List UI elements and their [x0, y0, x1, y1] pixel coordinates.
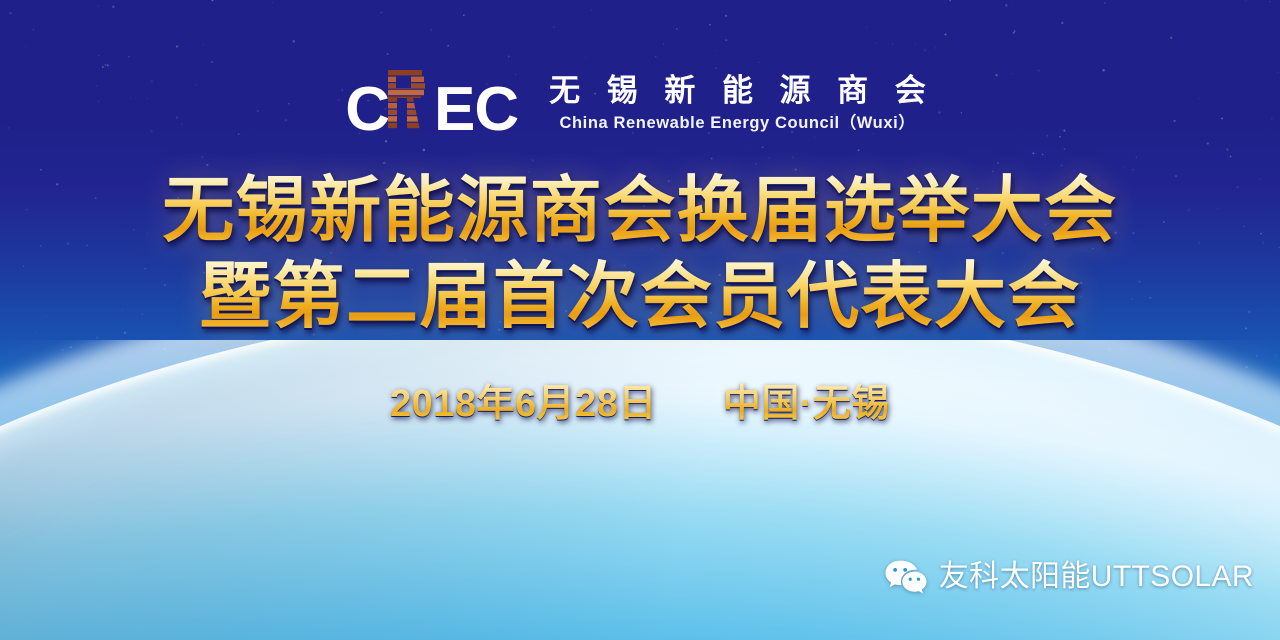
logo-english-name: China Renewable Energy Council（Wuxi） — [559, 114, 915, 132]
event-title: 无锡新能源商会换届选举大会 暨第二届首次会员代表大会 — [0, 170, 1280, 338]
logo-name-block: 无 锡 新 能 源 商 会 China Renewable Energy Cou… — [540, 75, 935, 132]
banner-content: C — [0, 0, 1280, 640]
event-location: 中国·无锡 — [723, 372, 890, 427]
event-title-line2: 暨第二届首次会员代表大会 — [0, 256, 1280, 338]
conference-banner: C — [0, 0, 1280, 640]
wechat-watermark: 友科太阳能UTTSOLAR — [884, 558, 1254, 596]
event-date: 2018年6月28日 — [390, 372, 657, 427]
striped-r-solar-icon — [387, 68, 433, 130]
wechat-icon — [884, 558, 928, 596]
event-meta: 2018年6月28日 中国·无锡 — [0, 372, 1280, 427]
crec-logo: C — [0, 66, 1280, 139]
wordmark-letter-c1: C — [345, 79, 389, 141]
wordmark-letters-ec: EC — [434, 79, 518, 141]
wechat-account-name: 友科太阳能UTTSOLAR — [939, 562, 1254, 592]
event-title-line1: 无锡新能源商会换届选举大会 — [0, 170, 1280, 252]
crec-wordmark: C — [345, 68, 518, 141]
logo-chinese-name: 无 锡 新 能 源 商 会 — [540, 75, 935, 108]
